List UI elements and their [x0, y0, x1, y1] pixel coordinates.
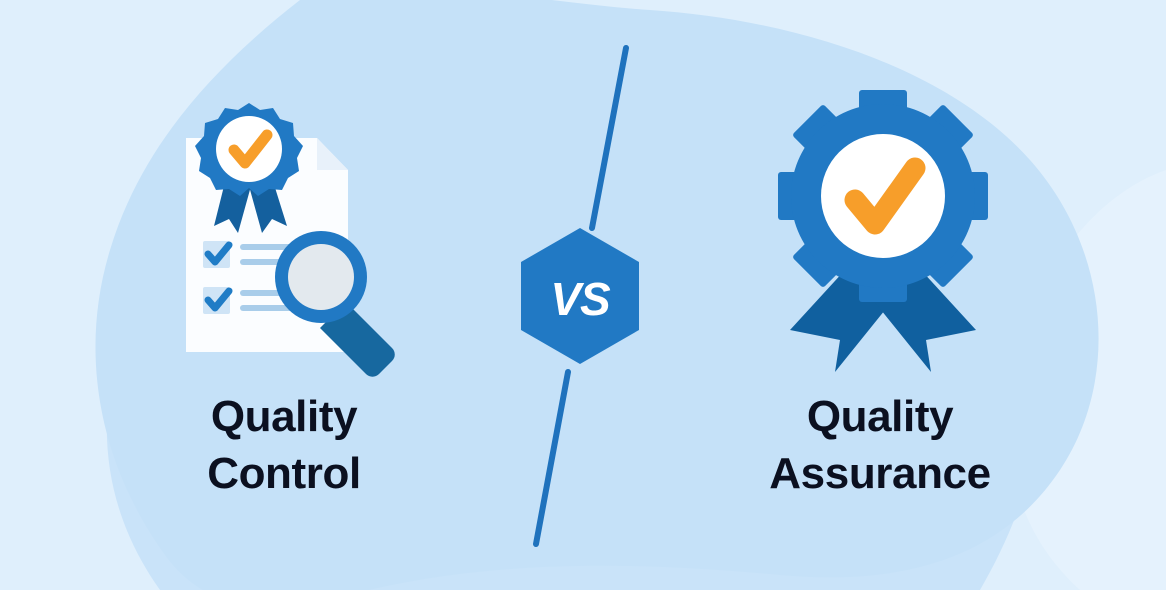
quality-assurance-label: Quality Assurance [700, 388, 1060, 502]
paper-folded-corner [317, 138, 348, 170]
magnifying-glass-icon [275, 231, 395, 377]
infographic-canvas: Quality Control Quality Assurance VS [0, 0, 1166, 590]
rosette-disc [216, 116, 282, 182]
quality-control-label: Quality Control [104, 388, 464, 502]
quality-assurance-icon [778, 90, 988, 372]
quality-control-icon [186, 103, 395, 377]
magnifier-lens [288, 244, 354, 310]
diagonal-line-bottom [536, 372, 568, 544]
vs-badge-label: VS [500, 272, 660, 326]
diagonal-line-top [592, 48, 626, 228]
